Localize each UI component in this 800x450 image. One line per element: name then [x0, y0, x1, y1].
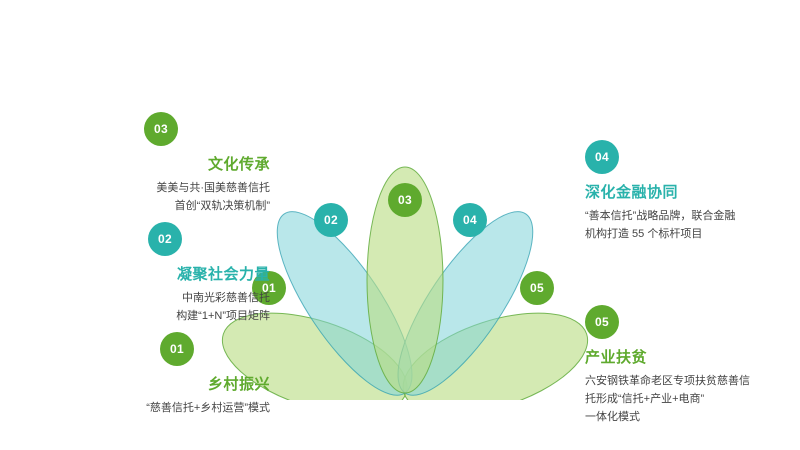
callout-02-title: 凝聚社会力量	[40, 263, 270, 284]
callout-02[interactable]: 02 凝聚社会力量 中南光彩慈善信托 构建“1+N”项目矩阵	[40, 222, 270, 325]
lotus-badge-04[interactable]: 04	[453, 203, 487, 237]
callout-03-number: 03	[154, 122, 168, 136]
lotus-badge-03-label: 03	[398, 193, 412, 207]
callout-03-body-line2: 首创“双轨决策机制”	[40, 197, 270, 215]
callout-01-title: 乡村振兴	[20, 373, 270, 394]
callout-03-badge[interactable]: 03	[144, 112, 178, 146]
callout-04[interactable]: 04 深化金融协同 “善本信托”战略品牌，联合金融 机构打造 55 个标杆项目	[585, 140, 800, 243]
callout-03-badge-wrap: 03	[40, 112, 270, 146]
callout-02-body-line2: 构建“1+N”项目矩阵	[40, 307, 270, 325]
callout-05-body-line2: 托形成“信托+产业+电商”	[585, 390, 800, 408]
callout-05-body-line1: 六安钢铁革命老区专项扶贫慈善信	[585, 372, 800, 390]
callout-05-body-line3: 一体化模式	[585, 408, 800, 426]
callout-01-number: 01	[170, 342, 184, 356]
lotus-badge-04-label: 04	[463, 213, 477, 227]
lotus-badge-03[interactable]: 03	[388, 183, 422, 217]
lotus-badge-02[interactable]: 02	[314, 203, 348, 237]
callout-01[interactable]: 01 乡村振兴 “慈善信托+乡村运营”模式	[20, 332, 270, 417]
callout-04-body-line2: 机构打造 55 个标杆项目	[585, 225, 800, 243]
callout-05-badge-wrap: 05	[585, 305, 800, 339]
callout-02-number: 02	[158, 232, 172, 246]
callout-01-badge[interactable]: 01	[160, 332, 194, 366]
lotus-badge-05-label: 05	[530, 281, 544, 295]
callout-05-badge[interactable]: 05	[585, 305, 619, 339]
callout-02-badge-wrap: 02	[40, 222, 270, 256]
callout-04-number: 04	[595, 150, 609, 164]
infographic-canvas: .pg { fill: #b9dd85; fill-opacity: .62; …	[0, 0, 800, 450]
callout-03-title: 文化传承	[40, 153, 270, 174]
callout-05-number: 05	[595, 315, 609, 329]
callout-03-body-line1: 美美与共·国美慈善信托	[40, 179, 270, 197]
callout-02-badge[interactable]: 02	[148, 222, 182, 256]
callout-02-body-line1: 中南光彩慈善信托	[40, 289, 270, 307]
callout-04-title: 深化金融协同	[585, 181, 800, 202]
callout-05[interactable]: 05 产业扶贫 六安钢铁革命老区专项扶贫慈善信 托形成“信托+产业+电商” 一体…	[585, 305, 800, 426]
lotus-badge-05[interactable]: 05	[520, 271, 554, 305]
callout-01-body-line1: “慈善信托+乡村运营”模式	[20, 399, 270, 417]
callout-01-badge-wrap: 01	[20, 332, 270, 366]
lotus-badge-02-label: 02	[324, 213, 338, 227]
callout-04-badge[interactable]: 04	[585, 140, 619, 174]
callout-04-badge-wrap: 04	[585, 140, 800, 174]
callout-05-title: 产业扶贫	[585, 346, 800, 367]
callout-03[interactable]: 03 文化传承 美美与共·国美慈善信托 首创“双轨决策机制”	[40, 112, 270, 215]
callout-04-body-line1: “善本信托”战略品牌，联合金融	[585, 207, 800, 225]
